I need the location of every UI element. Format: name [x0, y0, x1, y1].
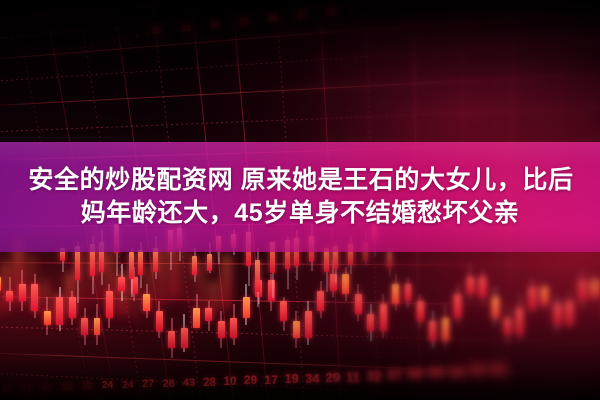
caption-line-2: 妈年龄还大，45岁单身不结婚愁坏父亲	[0, 197, 600, 230]
caption-text: 安全的炒股配资网 原来她是王石的大女儿，比后 妈年龄还大，45岁单身不结婚愁坏父…	[0, 164, 600, 230]
screenshot-root: 28333221302720••••••••• 1213372623242427…	[0, 0, 600, 400]
caption-band: 安全的炒股配资网 原来她是王石的大女儿，比后 妈年龄还大，45岁单身不结婚愁坏父…	[0, 142, 600, 252]
caption-line-1: 安全的炒股配资网 原来她是王石的大女儿，比后	[0, 164, 600, 197]
